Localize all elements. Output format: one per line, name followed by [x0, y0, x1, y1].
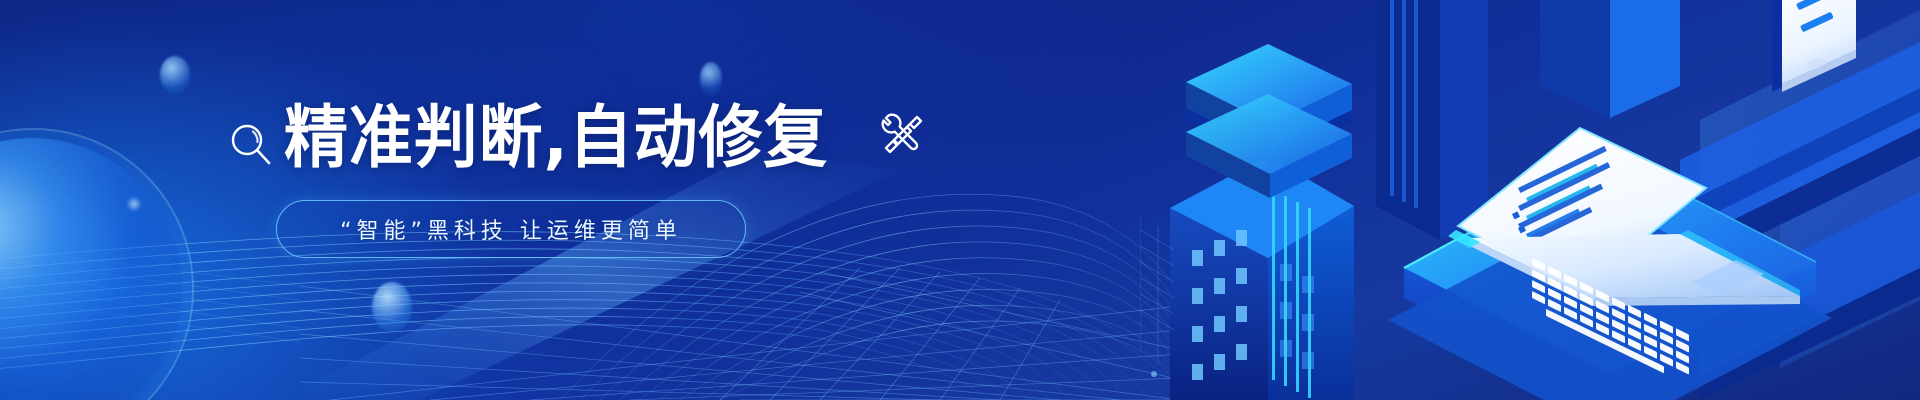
- headline-row: 精准判断,自动修复: [228, 96, 868, 182]
- bokeh-dot: [126, 196, 142, 212]
- subtitle-text: “智能”黑科技 让运维更简单: [340, 213, 682, 245]
- subtitle-pill: “智能”黑科技 让运维更简单: [276, 200, 746, 258]
- magnifier-icon: [228, 122, 274, 168]
- bokeh-dot: [160, 56, 190, 94]
- wrench-screwdriver-icon: [877, 111, 927, 161]
- bokeh-dot: [372, 282, 412, 332]
- page-title: 精准判断,自动修复: [284, 99, 828, 179]
- isometric-datacenter-illustration: [1140, 0, 1920, 400]
- bokeh-dot: [700, 62, 722, 96]
- banner-copy: 精准判断,自动修复 “智能”黑科技 让运维更简单: [228, 96, 868, 258]
- promo-banner: 精准判断,自动修复 “智能”黑科技 让运维更简单: [0, 0, 1920, 400]
